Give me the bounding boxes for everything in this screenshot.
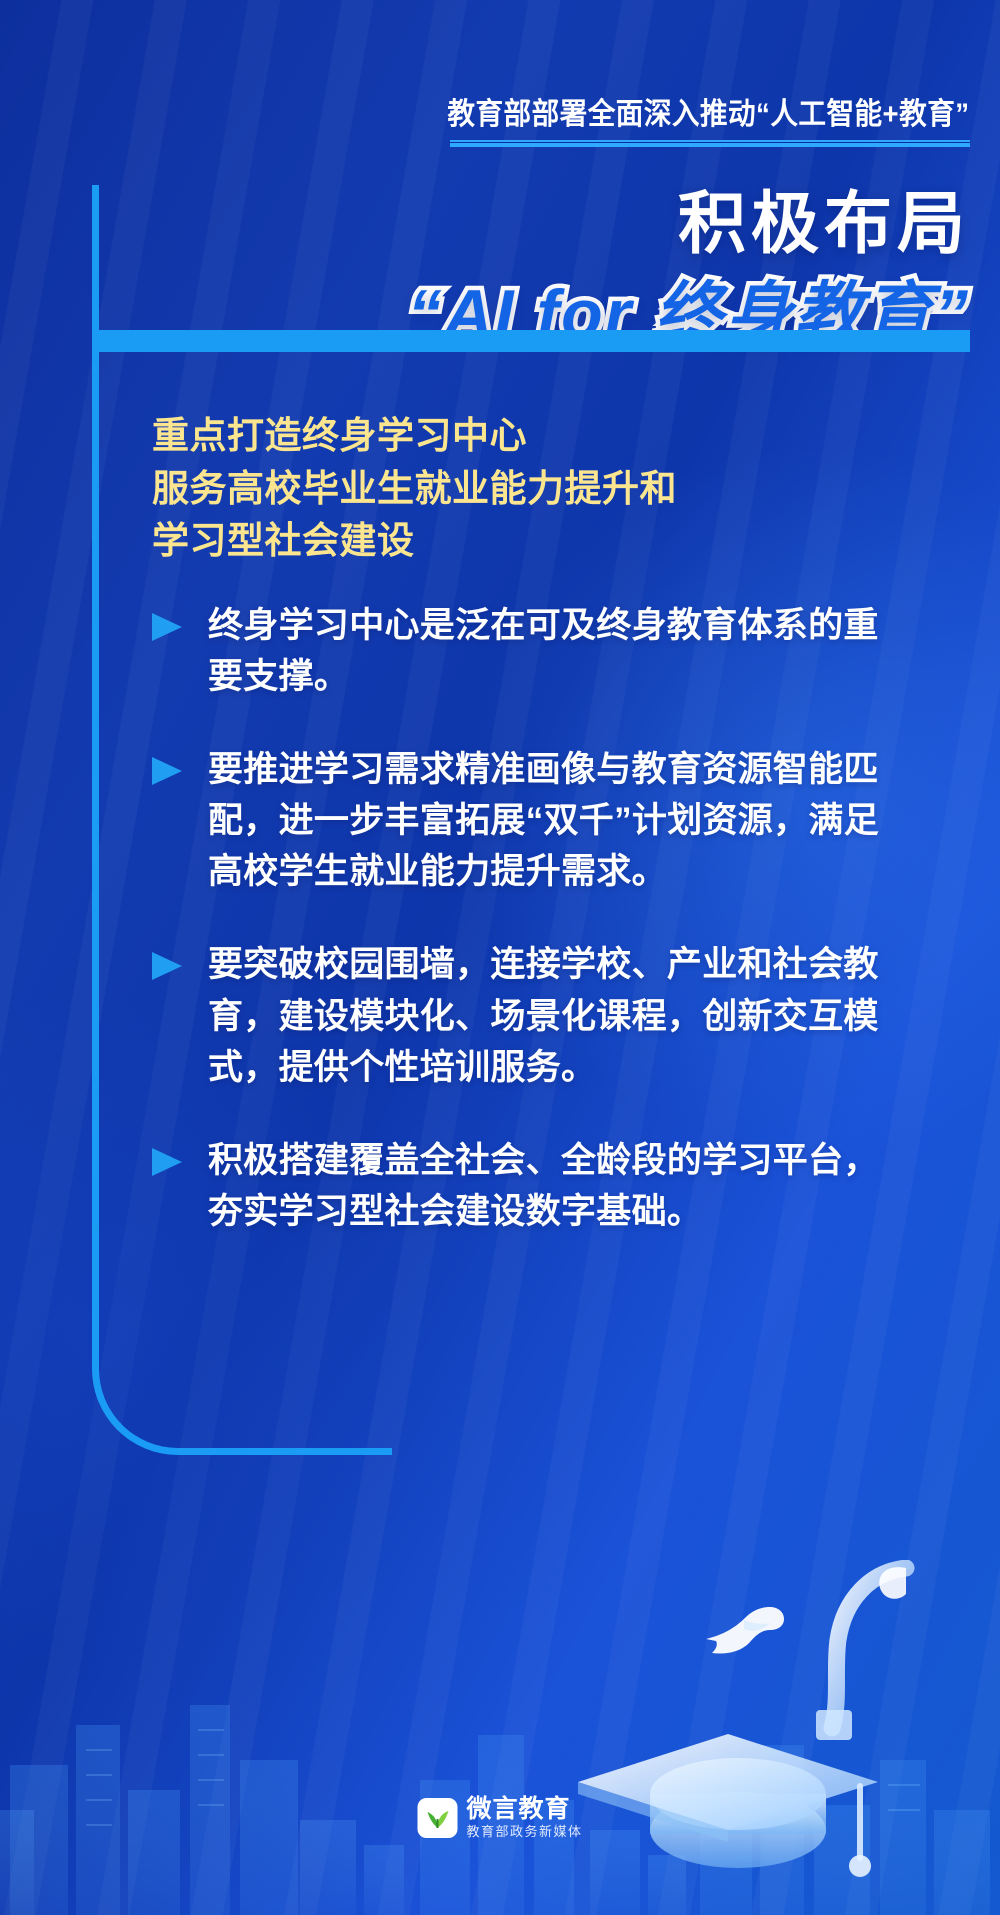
- list-item: 积极搭建覆盖全社会、全龄段的学习平台，夯实学习型社会建设数字基础。: [150, 1135, 900, 1237]
- arrow-right-icon: [152, 952, 182, 980]
- bullet-text: 要推进学习需求精准画像与教育资源智能匹配，进一步丰富拓展“双千”计划资源，满足高…: [208, 744, 900, 897]
- graduation-cap-icon: [560, 1690, 890, 1900]
- arrow-right-icon: [152, 757, 182, 785]
- bullet-text: 要突破校园围墙，连接学校、产业和社会教育，建设模块化、场景化课程，创新交互模式，…: [208, 939, 900, 1092]
- dove-icon: [700, 1595, 790, 1665]
- subtitle-band: [92, 330, 970, 352]
- header: 教育部部署全面深入推动“人工智能+教育”: [0, 96, 1000, 134]
- highlight-line: 重点打造终身学习中心: [152, 410, 892, 463]
- list-item: 终身学习中心是泛在可及终身教育体系的重要支撑。: [150, 600, 900, 702]
- highlight-line: 服务高校毕业生就业能力提升和: [152, 463, 892, 516]
- bullet-list: 终身学习中心是泛在可及终身教育体系的重要支撑。 要推进学习需求精准画像与教育资源…: [150, 600, 900, 1279]
- brand-name: 微言教育: [466, 1796, 582, 1822]
- header-kicker: 教育部部署全面深入推动“人工智能+教育”: [448, 96, 970, 134]
- bullet-text: 终身学习中心是泛在可及终身教育体系的重要支撑。: [208, 600, 900, 702]
- list-item: 要突破校园围墙，连接学校、产业和社会教育，建设模块化、场景化课程，创新交互模式，…: [150, 939, 900, 1092]
- arrow-right-icon: [152, 1148, 182, 1176]
- highlight-line: 学习型社会建设: [152, 515, 892, 568]
- footer-logo: 微言教育 教育部政务新媒体: [417, 1796, 582, 1839]
- sprout-leaf-icon: [417, 1798, 457, 1838]
- arrow-right-icon: [152, 613, 182, 641]
- diploma-scroll-icon: [810, 1560, 940, 1750]
- page-title: 积极布局: [0, 168, 1000, 267]
- list-item: 要推进学习需求精准画像与教育资源智能匹配，进一步丰富拓展“双千”计划资源，满足高…: [150, 744, 900, 897]
- poster-root: 教育部部署全面深入推动“人工智能+教育” 积极布局 “AI for 终身教育” …: [0, 0, 1000, 1915]
- highlight-heading: 重点打造终身学习中心 服务高校毕业生就业能力提升和 学习型社会建设: [152, 410, 892, 568]
- header-underline: [450, 140, 970, 147]
- bullet-text: 积极搭建覆盖全社会、全龄段的学习平台，夯实学习型社会建设数字基础。: [208, 1135, 900, 1237]
- city-skyline: [0, 1555, 1000, 1915]
- brand-tagline: 教育部政务新媒体: [466, 1825, 582, 1839]
